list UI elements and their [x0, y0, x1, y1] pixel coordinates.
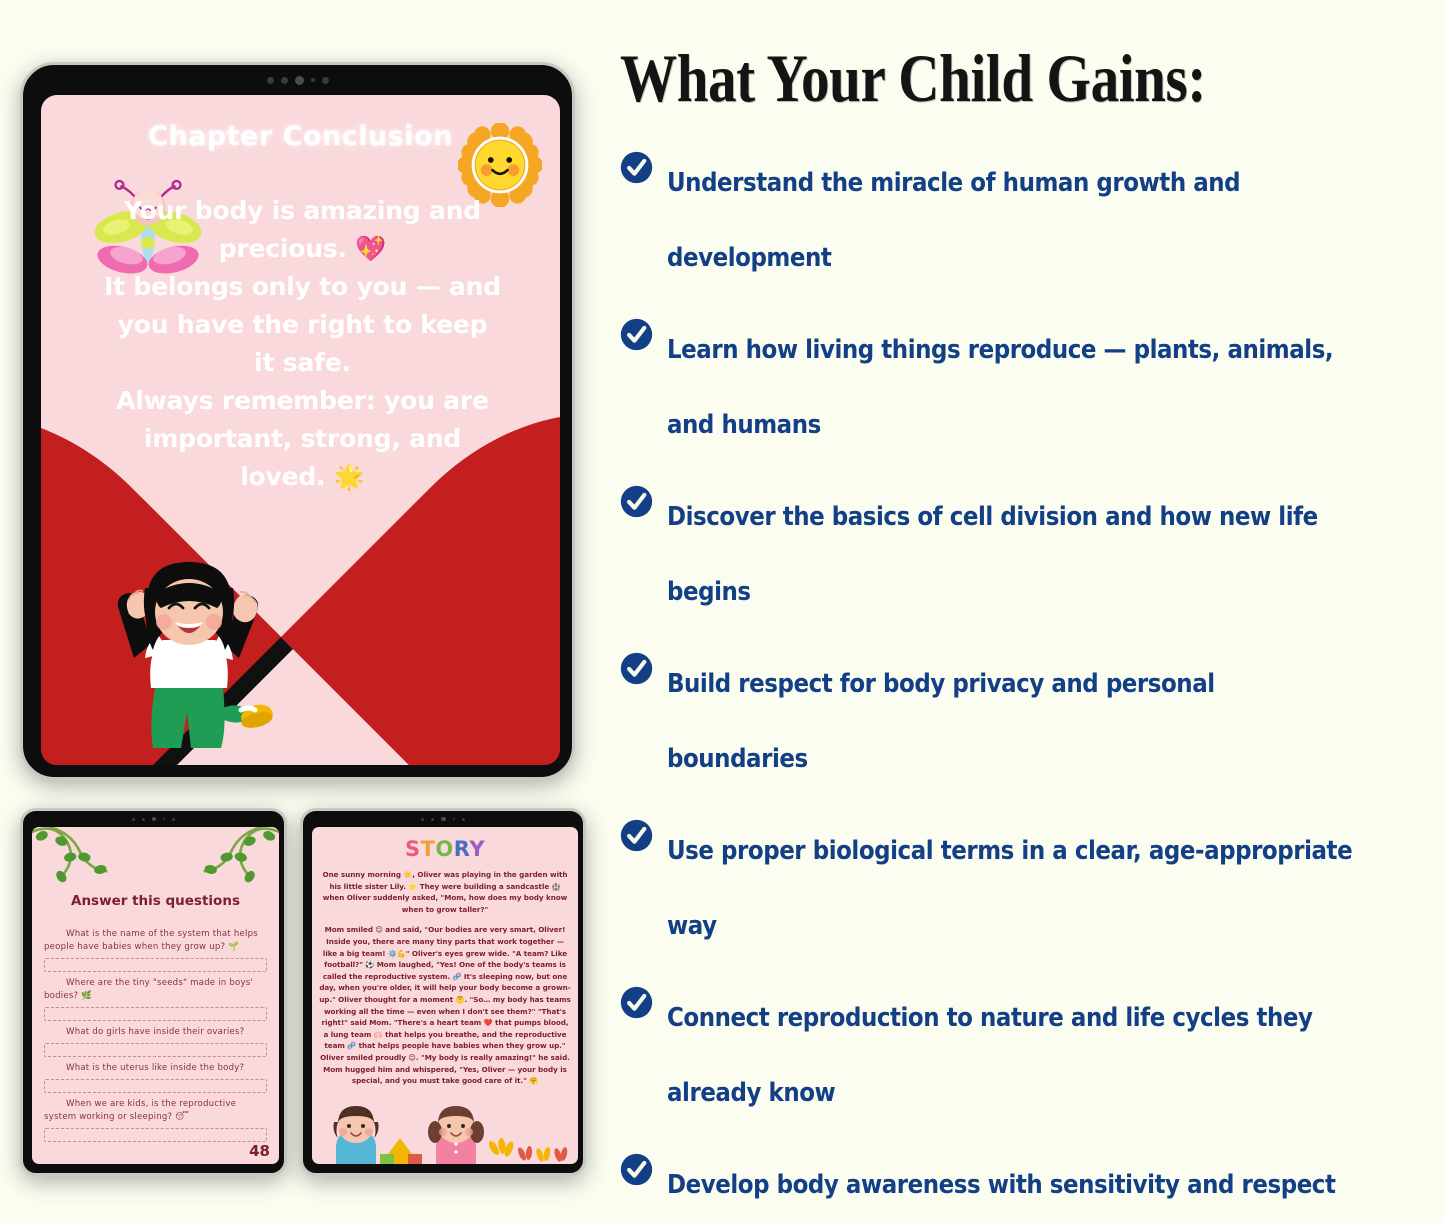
check-circle-icon [620, 151, 653, 184]
heart-message: Your body is amazing and precious. 💖 It … [81, 192, 524, 496]
tablet-camera-dots [23, 65, 572, 95]
check-circle-icon [620, 485, 653, 518]
benefit-label: Learn how living things reproduce — plan… [667, 313, 1358, 463]
vine-icon [32, 827, 123, 889]
quiz-answer-field[interactable] [44, 1079, 267, 1093]
benefit-item: Understand the miracle of human growth a… [620, 146, 1435, 296]
story-body: One sunny morning ☀️, Oliver was playing… [318, 869, 572, 1096]
quiz-title: Answer this questions [32, 893, 279, 909]
check-circle-icon [620, 318, 653, 351]
story-paragraph: Mom smiled 😊 and said, "Our bodies are v… [318, 924, 572, 1086]
heart-line: precious. 💖 [81, 230, 524, 268]
benefit-label: Develop body awareness with sensitivity … [667, 1148, 1358, 1223]
tablet-main-device: Chapter Conclusion [20, 62, 575, 780]
quiz-answer-field[interactable] [44, 1043, 267, 1057]
tablet-quiz-screen: Answer this questions What is the name o… [32, 827, 279, 1164]
camera-dot [462, 818, 465, 821]
page-number: 48 [249, 1142, 270, 1160]
quiz-question-list: What is the name of the system that help… [44, 923, 267, 1144]
heart-line: Your body is amazing and [81, 192, 524, 230]
quiz-question: When we are kids, is the reproductive sy… [44, 1098, 267, 1124]
quiz-question: Where are the tiny "seeds" made in boys'… [44, 977, 267, 1003]
benefit-item: Use proper biological terms in a clear, … [620, 814, 1435, 964]
story-title-letter: O [435, 837, 453, 861]
quiz-question: What is the uterus like inside the body? [44, 1062, 267, 1075]
check-circle-icon [620, 652, 653, 685]
heart-line: loved. 🌟 [81, 458, 524, 496]
camera-dot [163, 818, 165, 820]
tablet-camera-dots [23, 811, 284, 827]
story-title-letter: S [405, 837, 421, 861]
benefit-label: Use proper biological terms in a clear, … [667, 814, 1358, 964]
vine-icon [188, 827, 279, 889]
tablet-main-screen: Chapter Conclusion [41, 95, 560, 765]
camera-dot [295, 76, 304, 85]
benefit-label: Discover the basics of cell division and… [667, 480, 1358, 630]
camera-dot [431, 818, 434, 821]
story-title: STORY [312, 837, 578, 861]
heart-line: you have the right to keep [81, 306, 524, 344]
benefit-item: Connect reproduction to nature and life … [620, 981, 1435, 1131]
heart-line: It belongs only to you — and [81, 268, 524, 306]
page-title: What Your Child Gains: [620, 38, 1305, 118]
story-title-letter: Y [469, 837, 485, 861]
tablet-quiz-device: Answer this questions What is the name o… [20, 808, 287, 1176]
benefit-item: Develop body awareness with sensitivity … [620, 1148, 1435, 1223]
camera-dot [172, 818, 175, 821]
benefit-label: Understand the miracle of human growth a… [667, 146, 1358, 296]
benefit-label: Connect reproduction to nature and life … [667, 981, 1358, 1131]
benefit-item: Build respect for body privacy and perso… [620, 647, 1435, 797]
heart-line: it safe. [81, 344, 524, 382]
camera-dot [441, 817, 446, 822]
quiz-answer-field[interactable] [44, 958, 267, 972]
camera-dot [281, 77, 288, 84]
camera-dot [311, 78, 315, 82]
camera-dot [267, 77, 274, 84]
benefits-panel: What Your Child Gains: Understand the mi… [612, 0, 1445, 1204]
quiz-answer-field[interactable] [44, 1128, 267, 1142]
camera-dot [142, 818, 145, 821]
benefit-label: Build respect for body privacy and perso… [667, 647, 1358, 797]
camera-dot [152, 817, 157, 822]
quiz-question: What is the name of the system that help… [44, 928, 267, 954]
story-paragraph: One sunny morning ☀️, Oliver was playing… [318, 869, 572, 915]
story-title-letter: R [454, 837, 470, 861]
tablet-camera-dots [303, 811, 583, 827]
tablet-story-screen: STORY One sunny morning ☀️, Oliver was p… [312, 827, 578, 1164]
tablet-mockups-column: Chapter Conclusion [0, 0, 600, 1204]
quiz-answer-field[interactable] [44, 1007, 267, 1021]
girl-illustration [89, 540, 289, 765]
benefit-item: Learn how living things reproduce — plan… [620, 313, 1435, 463]
check-circle-icon [620, 986, 653, 1019]
camera-dot [322, 77, 329, 84]
children-illustration [312, 1102, 578, 1164]
camera-dot [453, 818, 455, 820]
story-title-letter: T [421, 837, 436, 861]
quiz-question: What do girls have inside their ovaries? [44, 1026, 267, 1039]
benefit-item: Discover the basics of cell division and… [620, 480, 1435, 630]
check-circle-icon [620, 1153, 653, 1186]
benefits-list: Understand the miracle of human growth a… [620, 146, 1435, 1223]
heart-line: Always remember: you are [81, 382, 524, 420]
tablet-story-device: STORY One sunny morning ☀️, Oliver was p… [300, 808, 586, 1176]
camera-dot [132, 818, 135, 821]
heart-line: important, strong, and [81, 420, 524, 458]
camera-dot [421, 818, 424, 821]
check-circle-icon [620, 819, 653, 852]
